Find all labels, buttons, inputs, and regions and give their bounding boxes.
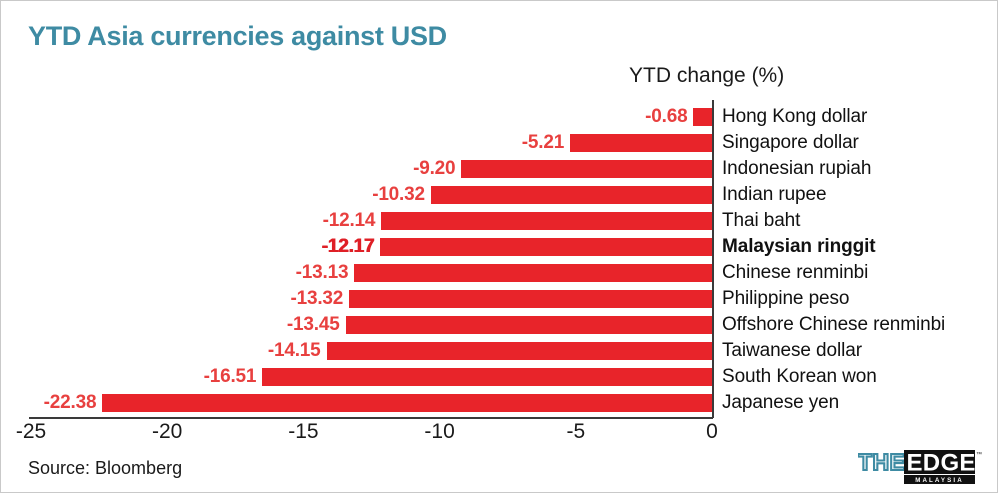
category-label: Japanese yen — [722, 392, 839, 414]
bar-value-label: -10.32 — [335, 184, 425, 206]
bar — [381, 212, 712, 230]
logo-the-text: THE — [858, 449, 906, 475]
bar — [461, 160, 712, 178]
category-label: Indian rupee — [722, 184, 826, 206]
logo-edge-text: EDGE — [907, 450, 976, 477]
bar-row: -22.38Japanese yen — [1, 390, 998, 416]
bar-row: -9.20Indonesian rupiah — [1, 156, 998, 182]
category-label: Chinese renminbi — [722, 262, 868, 284]
logo-malaysia-text: MALAYSIA — [915, 477, 964, 484]
bar-row: -13.45Offshore Chinese renminbi — [1, 312, 998, 338]
x-tick-label: 0 — [706, 420, 718, 444]
plot-area: -0.68Hong Kong dollar-5.21Singapore doll… — [1, 1, 998, 493]
x-tick-label: -15 — [288, 420, 318, 444]
category-label: Hong Kong dollar — [722, 106, 867, 128]
x-axis-baseline — [29, 417, 713, 419]
bar — [349, 290, 712, 308]
chart-figure: YTD Asia currencies against USD YTD chan… — [0, 0, 998, 493]
logo-svg: THE EDGE ™ MALAYSIA — [858, 448, 983, 486]
bar — [570, 134, 712, 152]
bar-value-label: -13.45 — [250, 314, 340, 336]
category-label: Indonesian rupiah — [722, 158, 871, 180]
bar — [431, 186, 712, 204]
x-tick-label: -5 — [566, 420, 585, 444]
bar-value-label: -13.32 — [253, 288, 343, 310]
bar-row: -13.13Chinese renminbi — [1, 260, 998, 286]
category-label: Philippine peso — [722, 288, 849, 310]
the-edge-malaysia-logo: THE EDGE ™ MALAYSIA — [858, 448, 983, 486]
bar-value-label: -12.14 — [285, 210, 375, 232]
source-note: Source: Bloomberg — [28, 458, 182, 479]
bar-row: -10.32Indian rupee — [1, 182, 998, 208]
bar — [380, 238, 712, 256]
bar-row: -12.14Thai baht — [1, 208, 998, 234]
bar — [693, 108, 712, 126]
category-label: Singapore dollar — [722, 132, 859, 154]
category-label: Offshore Chinese renminbi — [722, 314, 945, 336]
bar-value-label: -0.68 — [597, 106, 687, 128]
x-tick-label: -25 — [16, 420, 46, 444]
category-label: Malaysian ringgit — [722, 236, 876, 258]
x-tick-label: -10 — [424, 420, 454, 444]
bar-row: -0.68Hong Kong dollar — [1, 104, 998, 130]
bar — [346, 316, 712, 334]
bar — [327, 342, 712, 360]
bar-value-label: -9.20 — [365, 158, 455, 180]
bar-row: -16.51South Korean won — [1, 364, 998, 390]
category-label: South Korean won — [722, 366, 877, 388]
bar-value-label: -5.21 — [474, 132, 564, 154]
category-label: Thai baht — [722, 210, 800, 232]
bar-value-label: -22.38 — [6, 392, 96, 414]
bar-value-label: -13.13 — [258, 262, 348, 284]
x-tick-label: -20 — [152, 420, 182, 444]
category-label: Taiwanese dollar — [722, 340, 862, 362]
bar-row: -13.32Philippine peso — [1, 286, 998, 312]
bar-value-label: -14.15 — [231, 340, 321, 362]
bar-row: -12.17Malaysian ringgit — [1, 234, 998, 260]
zero-axis-line — [712, 100, 714, 418]
bar-value-label: -16.51 — [166, 366, 256, 388]
bar-row: -5.21Singapore dollar — [1, 130, 998, 156]
bar — [262, 368, 712, 386]
bar — [354, 264, 712, 282]
logo-trademark: ™ — [976, 451, 982, 458]
bar — [102, 394, 712, 412]
bar-row: -14.15Taiwanese dollar — [1, 338, 998, 364]
bar-value-label: -12.17 — [284, 236, 374, 258]
